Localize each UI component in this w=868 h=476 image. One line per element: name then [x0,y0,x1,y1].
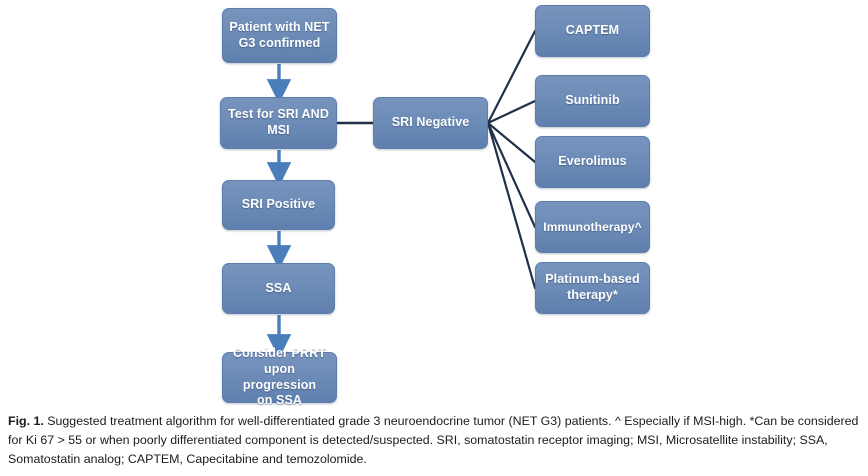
flowchart-connectors [0,0,868,408]
figure-caption-text: Suggested treatment algorithm for well-d… [8,414,858,466]
edge-sri-negative-to-sunitinib [488,101,535,123]
figure-caption: Fig. 1. Suggested treatment algorithm fo… [8,412,862,469]
node-patient: Patient with NET G3 confirmed [222,8,337,63]
node-sri-negative: SRI Negative [373,97,488,149]
node-sunitinib: Sunitinib [535,75,650,127]
edge-sri-negative-to-immunotherapy [488,123,535,227]
node-test-for-sri-and-msi-label: Test for SRI AND MSI [228,107,329,138]
figure-panel: Patient with NET G3 confirmed Test for S… [0,0,868,408]
node-sri-negative-label: SRI Negative [392,115,470,131]
figure-caption-label: Fig. 1. [8,414,44,428]
node-captem: CAPTEM [535,5,650,57]
node-everolimus: Everolimus [535,136,650,188]
node-test-for-sri-and-msi: Test for SRI AND MSI [220,97,337,149]
node-immunotherapy-label: Immunotherapy^ [543,220,641,235]
node-platinum-based-therapy: Platinum-based therapy* [535,262,650,314]
node-sri-positive-label: SRI Positive [242,197,315,213]
node-patient-label: Patient with NET G3 confirmed [229,20,329,51]
node-platinum-based-therapy-label: Platinum-based therapy* [545,272,639,303]
node-everolimus-label: Everolimus [558,154,626,170]
node-immunotherapy: Immunotherapy^ [535,201,650,253]
edge-sri-negative-to-captem [488,31,535,123]
node-consider-prrt: Consider PRRT upon progression on SSA [222,352,337,403]
node-ssa-label: SSA [265,281,291,297]
node-consider-prrt-label: Consider PRRT upon progression on SSA [227,346,332,409]
node-sunitinib-label: Sunitinib [565,93,619,109]
edge-sri-negative-to-platinum [488,123,535,288]
node-captem-label: CAPTEM [566,23,619,39]
node-sri-positive: SRI Positive [222,180,335,230]
node-ssa: SSA [222,263,335,314]
edge-sri-negative-to-everolimus [488,123,535,162]
